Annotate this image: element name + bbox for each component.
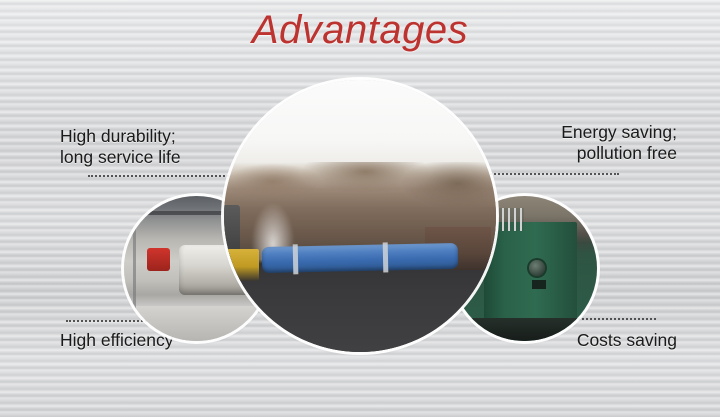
advantage-label-energy-line1: Energy saving; <box>561 122 677 143</box>
connector-top-left <box>88 175 236 177</box>
advantage-label-energy-line2: pollution free <box>561 143 677 164</box>
access-hatch <box>532 280 546 289</box>
blue-rotary-drum <box>262 242 458 272</box>
advantage-label-energy: Energy saving; pollution free <box>561 122 677 165</box>
connector-top-right <box>487 173 619 175</box>
advantage-label-durability-line1: High durability; <box>60 126 181 147</box>
rotary-dryer-outdoor-photo <box>224 80 496 352</box>
red-burner-unit <box>147 248 170 271</box>
advantage-label-durability: High durability; long service life <box>60 126 181 169</box>
inspection-port <box>529 260 545 276</box>
wheel-loader <box>224 249 259 282</box>
advantage-label-durability-line2: long service life <box>60 147 181 168</box>
page-title: Advantages <box>0 8 720 53</box>
center-photo-circle <box>224 80 496 352</box>
advantages-slide: Advantages <box>0 0 720 417</box>
boiler-body <box>484 222 577 332</box>
